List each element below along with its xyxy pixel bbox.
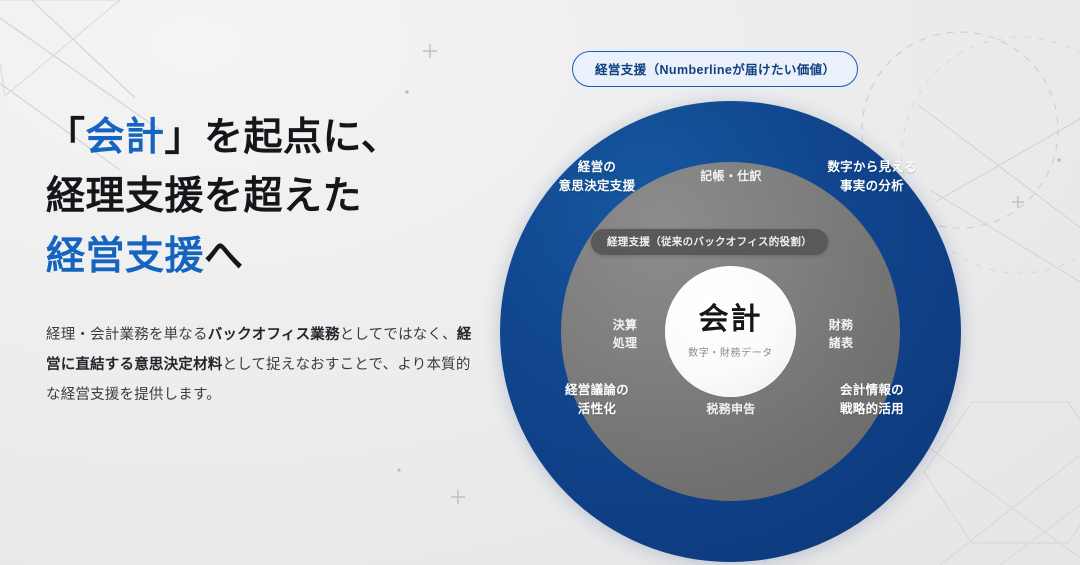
description-part-1: 経理・会計業務を単なる [46,327,208,343]
label-financial-statements-line2: 諸表 [813,334,869,352]
page-title: 「会計」を起点に、 経理支援を超えた 経営支援へ [46,108,476,286]
headline-line-1: 「会計」を起点に、 [46,116,400,159]
core-title: 会計 [699,305,763,335]
label-management-discussion-line1: 経営議論の [537,381,657,400]
label-settlement-line1: 決算 [597,316,653,334]
label-management-decision-support-line2: 意思決定支援 [537,177,657,196]
label-settlement-line2: 処理 [597,334,653,352]
outer-ring-pill-label: 経営支援（Numberlineが届けたい価値） [572,51,858,87]
headline-line-2: 経理支援を超えた [46,175,362,218]
label-strategic-use-line1: 会計情報の [807,381,937,400]
label-financial-statements: 財務 諸表 [813,316,869,352]
label-tax-filing: 税務申告 [651,400,811,418]
hero-description: 経理・会計業務を単なるバックオフィス業務としてではなく、経営に直結する意思決定材… [46,320,476,410]
description-part-2: としてではなく、 [340,327,457,343]
label-management-discussion-line2: 活性化 [537,400,657,419]
headline-line-1-rest: 」を起点に、 [165,116,401,159]
core-subtitle: 数字・財務データ [688,344,773,359]
label-management-discussion-activation: 経営議論の 活性化 [537,381,657,419]
label-fact-analysis-line1: 数字から見える [807,158,937,177]
label-bookkeeping-journalizing: 記帳・仕訳 [651,167,811,185]
headline-open-bracket: 「 [46,116,86,159]
description-bold-backoffice: バックオフィス業務 [208,327,340,343]
headline-accent-accounting: 会計 [86,116,165,159]
inner-ring-pill-label: 経理支援（従来のバックオフィス的役割） [591,229,828,255]
label-settlement-processing: 決算 処理 [597,316,653,352]
headline-line-3-rest: へ [204,235,244,278]
label-management-decision-support-line1: 経営の [537,158,657,177]
concentric-circles-diagram: 経営支援（Numberlineが届けたい価値） 会計 数字・財務データ 経理支援… [495,40,1040,540]
hero-text-panel: 「会計」を起点に、 経理支援を超えた 経営支援へ 経理・会計業務を単なるバックオ… [46,108,476,410]
label-strategic-use-line2: 戦略的活用 [807,400,937,419]
label-management-decision-support: 経営の 意思決定支援 [537,158,657,196]
label-fact-analysis-line2: 事実の分析 [807,177,937,196]
label-financial-statements-line1: 財務 [813,316,869,334]
label-fact-analysis-from-numbers: 数字から見える 事実の分析 [807,158,937,196]
core-circle-accounting: 会計 数字・財務データ [665,266,796,397]
headline-accent-management-support: 経営支援 [46,235,204,278]
label-strategic-use-of-accounting-info: 会計情報の 戦略的活用 [807,381,937,419]
